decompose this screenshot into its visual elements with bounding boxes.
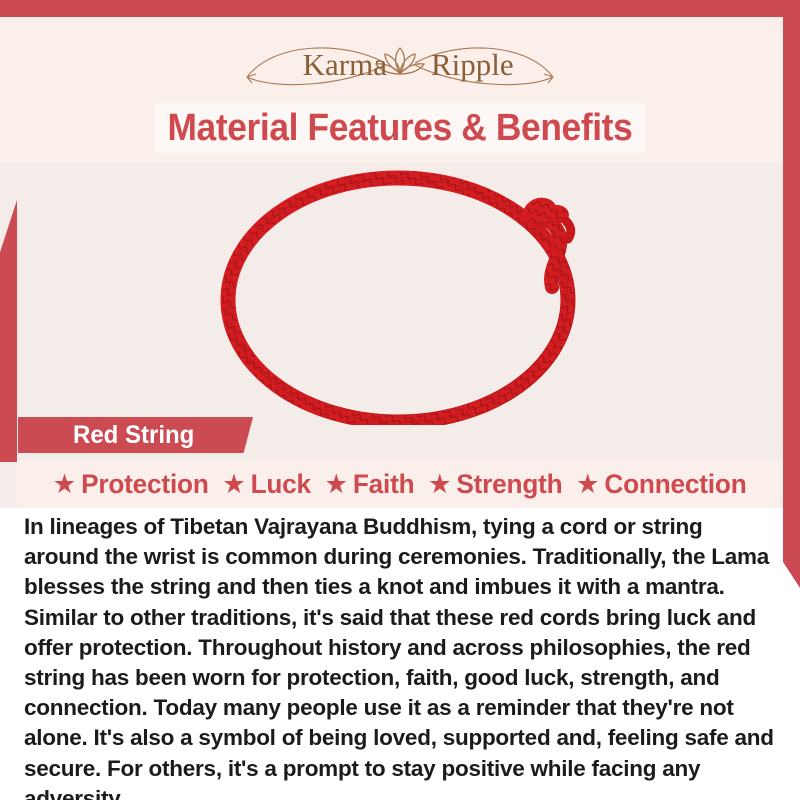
star-icon: ★ (53, 471, 76, 498)
benefit-label-protection: Protection (81, 469, 209, 500)
star-icon: ★ (325, 471, 348, 498)
benefit-label-strength: Strength (457, 469, 563, 500)
benefits-list: ★ Protection ★ Luck ★ Faith ★ Strength ★… (46, 469, 753, 500)
benefit-item-connection: ★ Connection (576, 469, 746, 500)
description-text: In lineages of Tibetan Vajrayana Buddhis… (24, 512, 776, 800)
star-icon: ★ (223, 471, 246, 498)
benefit-item-strength: ★ Strength (428, 469, 562, 500)
product-feature-banner: Karma Ripple Material Features & Benefit… (0, 0, 800, 800)
benefit-item-luck: ★ Luck (223, 469, 312, 500)
material-name-banner: Red String (18, 417, 253, 453)
brand-name-left: Karma (303, 47, 388, 82)
benefit-item-protection: ★ Protection (53, 469, 209, 500)
brand-logo: Karma Ripple (0, 33, 800, 95)
top-accent-strip (0, 0, 800, 17)
page-title: Material Features & Benefits (168, 107, 633, 150)
product-image (180, 165, 630, 425)
star-icon: ★ (428, 471, 451, 498)
brand-name-right: Ripple (431, 47, 514, 82)
page-title-band: Material Features & Benefits (155, 103, 645, 153)
benefits-band: ★ Protection ★ Luck ★ Faith ★ Strength ★… (17, 460, 783, 508)
braided-bracelet-illustration (180, 165, 630, 425)
benefit-label-faith: Faith (353, 469, 415, 500)
star-icon: ★ (576, 471, 599, 498)
material-name: Red String (73, 421, 194, 450)
brand-logo-svg: Karma Ripple (235, 33, 565, 95)
benefit-label-luck: Luck (251, 469, 311, 500)
benefit-label-connection: Connection (605, 469, 747, 500)
benefit-item-faith: ★ Faith (325, 469, 415, 500)
